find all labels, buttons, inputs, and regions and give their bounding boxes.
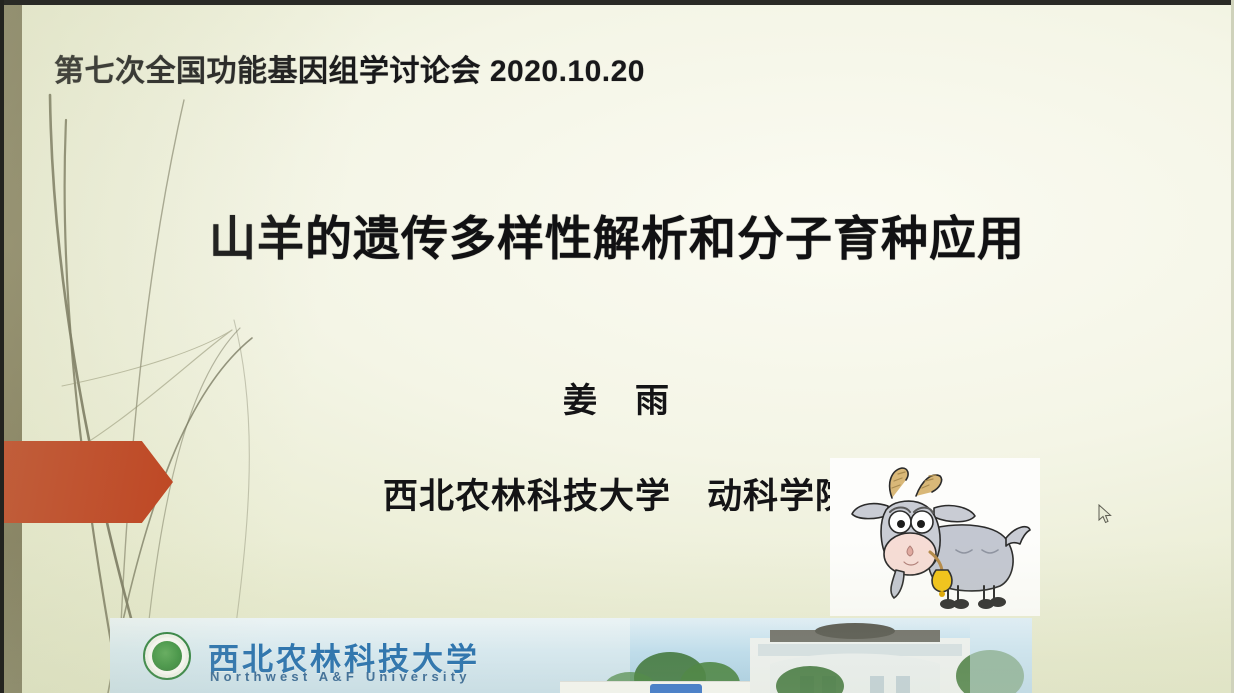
goat-illustration-box xyxy=(830,458,1040,616)
conference-heading: 第七次全国功能基因组学讨论会 2020.10.20 xyxy=(54,46,645,90)
frame-top-letterbox xyxy=(0,0,1234,5)
goat-icon xyxy=(830,458,1040,616)
speaker-name: 姜 雨 xyxy=(0,373,1234,422)
university-name-en: Northwest A&F University xyxy=(210,669,471,684)
mouse-cursor-icon xyxy=(1098,504,1112,524)
grass-stems-decoration xyxy=(0,0,420,693)
left-olive-band xyxy=(4,5,22,693)
player-primary-button[interactable] xyxy=(650,684,702,693)
slide-title: 山羊的遗传多样性解析和分子育种应用 xyxy=(0,200,1234,269)
university-logo xyxy=(143,632,191,680)
video-player-viewport: 第七次全国功能基因组学讨论会 2020.10.20 山羊的遗传多样性解析和分子育… xyxy=(0,0,1234,693)
logo-wheat-emblem xyxy=(152,641,182,671)
speaker-affiliation: 西北农林科技大学 动科学院 xyxy=(0,468,1234,519)
frame-left-letterbox xyxy=(0,0,4,693)
